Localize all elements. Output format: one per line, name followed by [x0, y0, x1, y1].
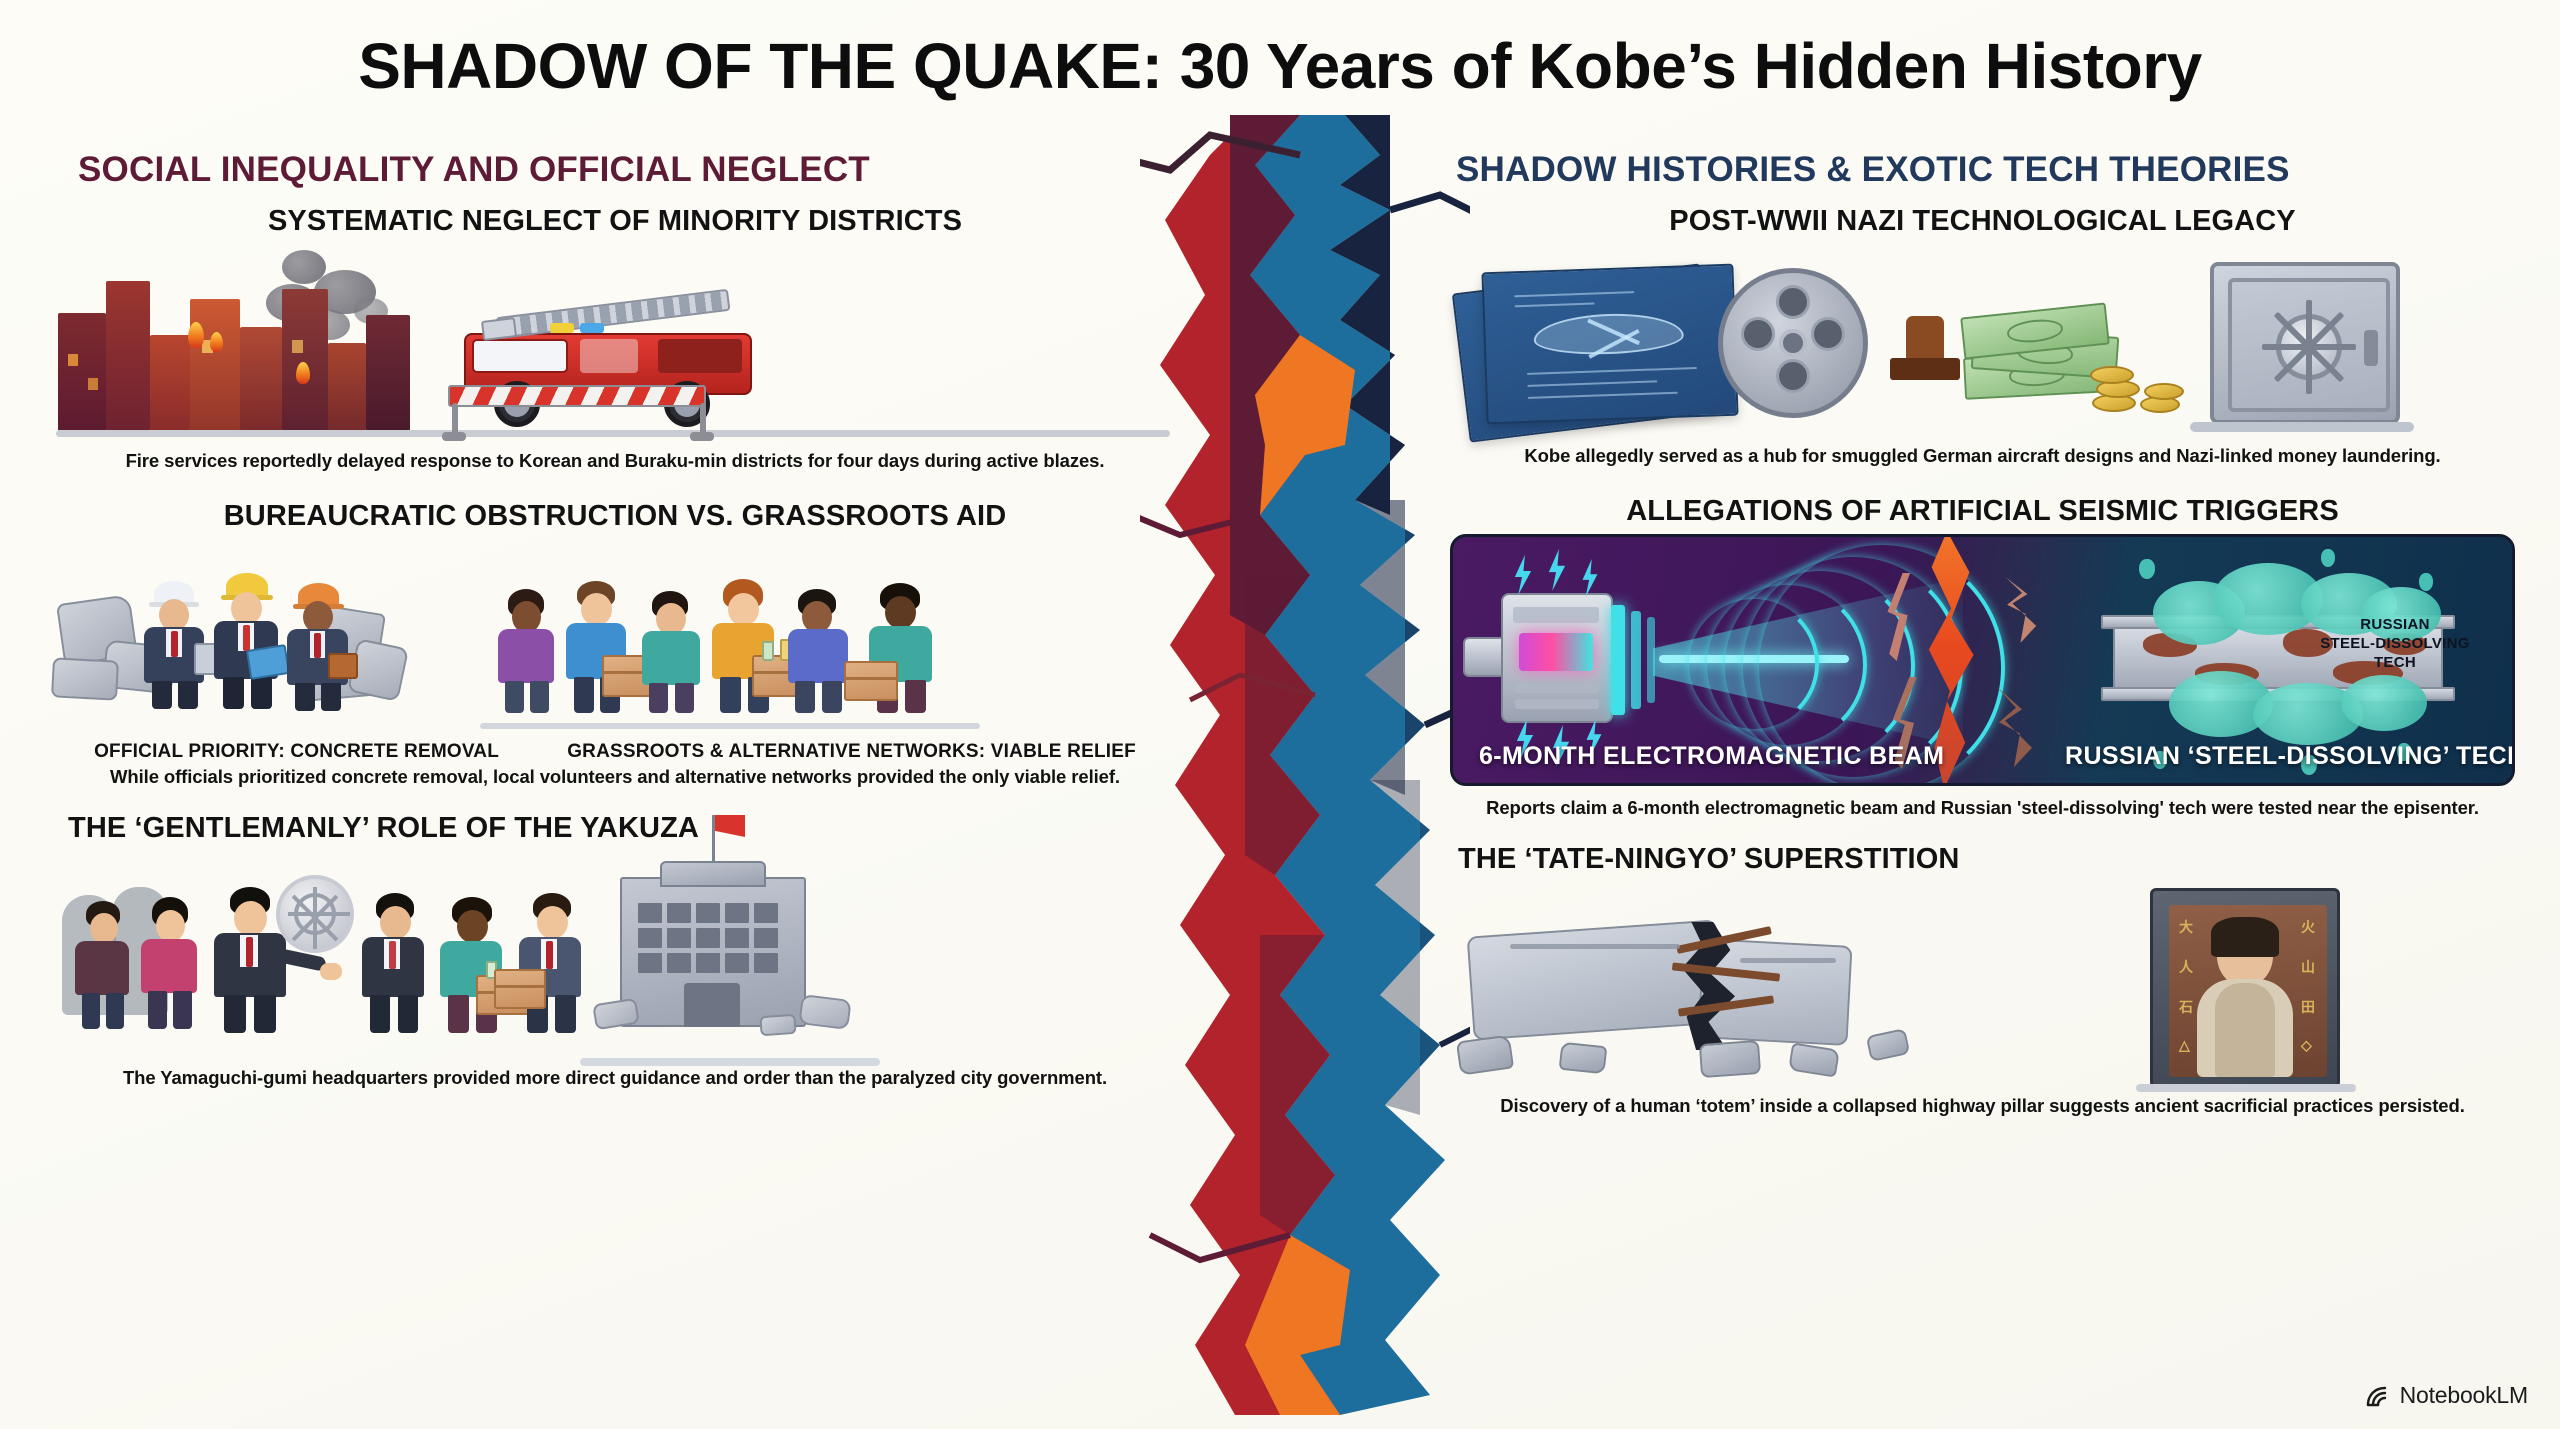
notebooklm-logo-icon — [2365, 1384, 2391, 1408]
illustration-officials-and-volunteers — [60, 539, 1170, 739]
inner-label-line-2: STEEL-DISSOLVING — [2317, 634, 2473, 653]
panel-label-steel-dissolving-tech: RUSSIAN ‘STEEL-DISSOLVING’ TECH — [2065, 742, 2515, 771]
seismic-trigger-panel: RUSSIAN STEEL-DISSOLVING TECH 6-MONTH EL… — [1450, 534, 2515, 786]
card-systematic-neglect: SYSTEMATIC NEGLECT OF MINORITY DISTRICTS — [60, 204, 1170, 473]
card-caption: While officials prioritized concrete rem… — [60, 765, 1170, 789]
sublabel-grassroots-networks: GRASSROOTS & ALTERNATIVE NETWORKS: VIABL… — [567, 741, 1136, 763]
card-title: THE ‘GENTLEMANLY’ ROLE OF THE YAKUZA — [60, 811, 1170, 845]
card-title: THE ‘TATE-NINGYO’ SUPERSTITION — [1450, 842, 2515, 876]
card-caption: Kobe allegedly served as a hub for smugg… — [1450, 444, 2515, 468]
card-nazi-technological-legacy: POST-WWII NAZI TECHNOLOGICAL LEGACY — [1450, 204, 2515, 468]
card-title: ALLEGATIONS OF ARTIFICIAL SEISMIC TRIGGE… — [1450, 494, 2515, 528]
central-crack-graphic — [1140, 115, 1470, 1415]
sublabel-row: OFFICIAL PRIORITY: CONCRETE REMOVAL GRAS… — [60, 741, 1170, 763]
illustration-blueprints-reel-money-safe — [1450, 244, 2515, 444]
illustration-yakuza-and-city-hall — [60, 851, 1170, 1066]
card-bureaucratic-obstruction: BUREAUCRATIC OBSTRUCTION VS. GRASSROOTS … — [60, 499, 1170, 789]
card-title: POST-WWII NAZI TECHNOLOGICAL LEGACY — [1450, 204, 2515, 238]
right-column: SHADOW HISTORIES & EXOTIC TECH THEORIES … — [1450, 150, 2515, 1122]
section-header-social-inequality: SOCIAL INEQUALITY AND OFFICIAL NEGLECT — [60, 150, 1170, 190]
inner-label-russian-steel-dissolving-tech: RUSSIAN STEEL-DISSOLVING TECH — [2317, 615, 2473, 672]
card-caption: Fire services reportedly delayed respons… — [60, 449, 1170, 473]
card-title: SYSTEMATIC NEGLECT OF MINORITY DISTRICTS — [60, 204, 1170, 238]
card-caption: Reports claim a 6-month electromagnetic … — [1450, 796, 2515, 820]
inner-label-line-1: RUSSIAN — [2317, 615, 2473, 634]
notebooklm-watermark: NotebookLM — [2365, 1382, 2528, 1409]
sublabel-official-priority: OFFICIAL PRIORITY: CONCRETE REMOVAL — [94, 741, 499, 763]
watermark-label: NotebookLM — [2400, 1382, 2528, 1409]
panel-label-electromagnetic-beam: 6-MONTH ELECTROMAGNETIC BEAM — [1479, 742, 1944, 771]
card-artificial-seismic-triggers: ALLEGATIONS OF ARTIFICIAL SEISMIC TRIGGE… — [1450, 494, 2515, 820]
inner-label-line-3: TECH — [2317, 653, 2473, 672]
left-column: SOCIAL INEQUALITY AND OFFICIAL NEGLECT S… — [60, 150, 1170, 1094]
card-yakuza-role: THE ‘GENTLEMANLY’ ROLE OF THE YAKUZA — [60, 811, 1170, 1090]
illustration-burning-district — [60, 244, 1170, 449]
card-tate-ningyo-superstition: THE ‘TATE-NINGYO’ SUPERSTITION — [1450, 842, 2515, 1118]
section-header-shadow-histories: SHADOW HISTORIES & EXOTIC TECH THEORIES — [1450, 150, 2515, 190]
card-caption: Discovery of a human ‘totem’ inside a co… — [1450, 1094, 2515, 1118]
illustration-pillar-and-totem: ⼤ ⼈ ⽯ △ ⽕ ⼭ ⽥ ◇ — [1450, 882, 2515, 1094]
card-caption: The Yamaguchi-gumi headquarters provided… — [60, 1066, 1170, 1090]
page-title: SHADOW OF THE QUAKE: 30 Years of Kobe’s … — [0, 28, 2560, 104]
card-title: BUREAUCRATIC OBSTRUCTION VS. GRASSROOTS … — [60, 499, 1170, 533]
